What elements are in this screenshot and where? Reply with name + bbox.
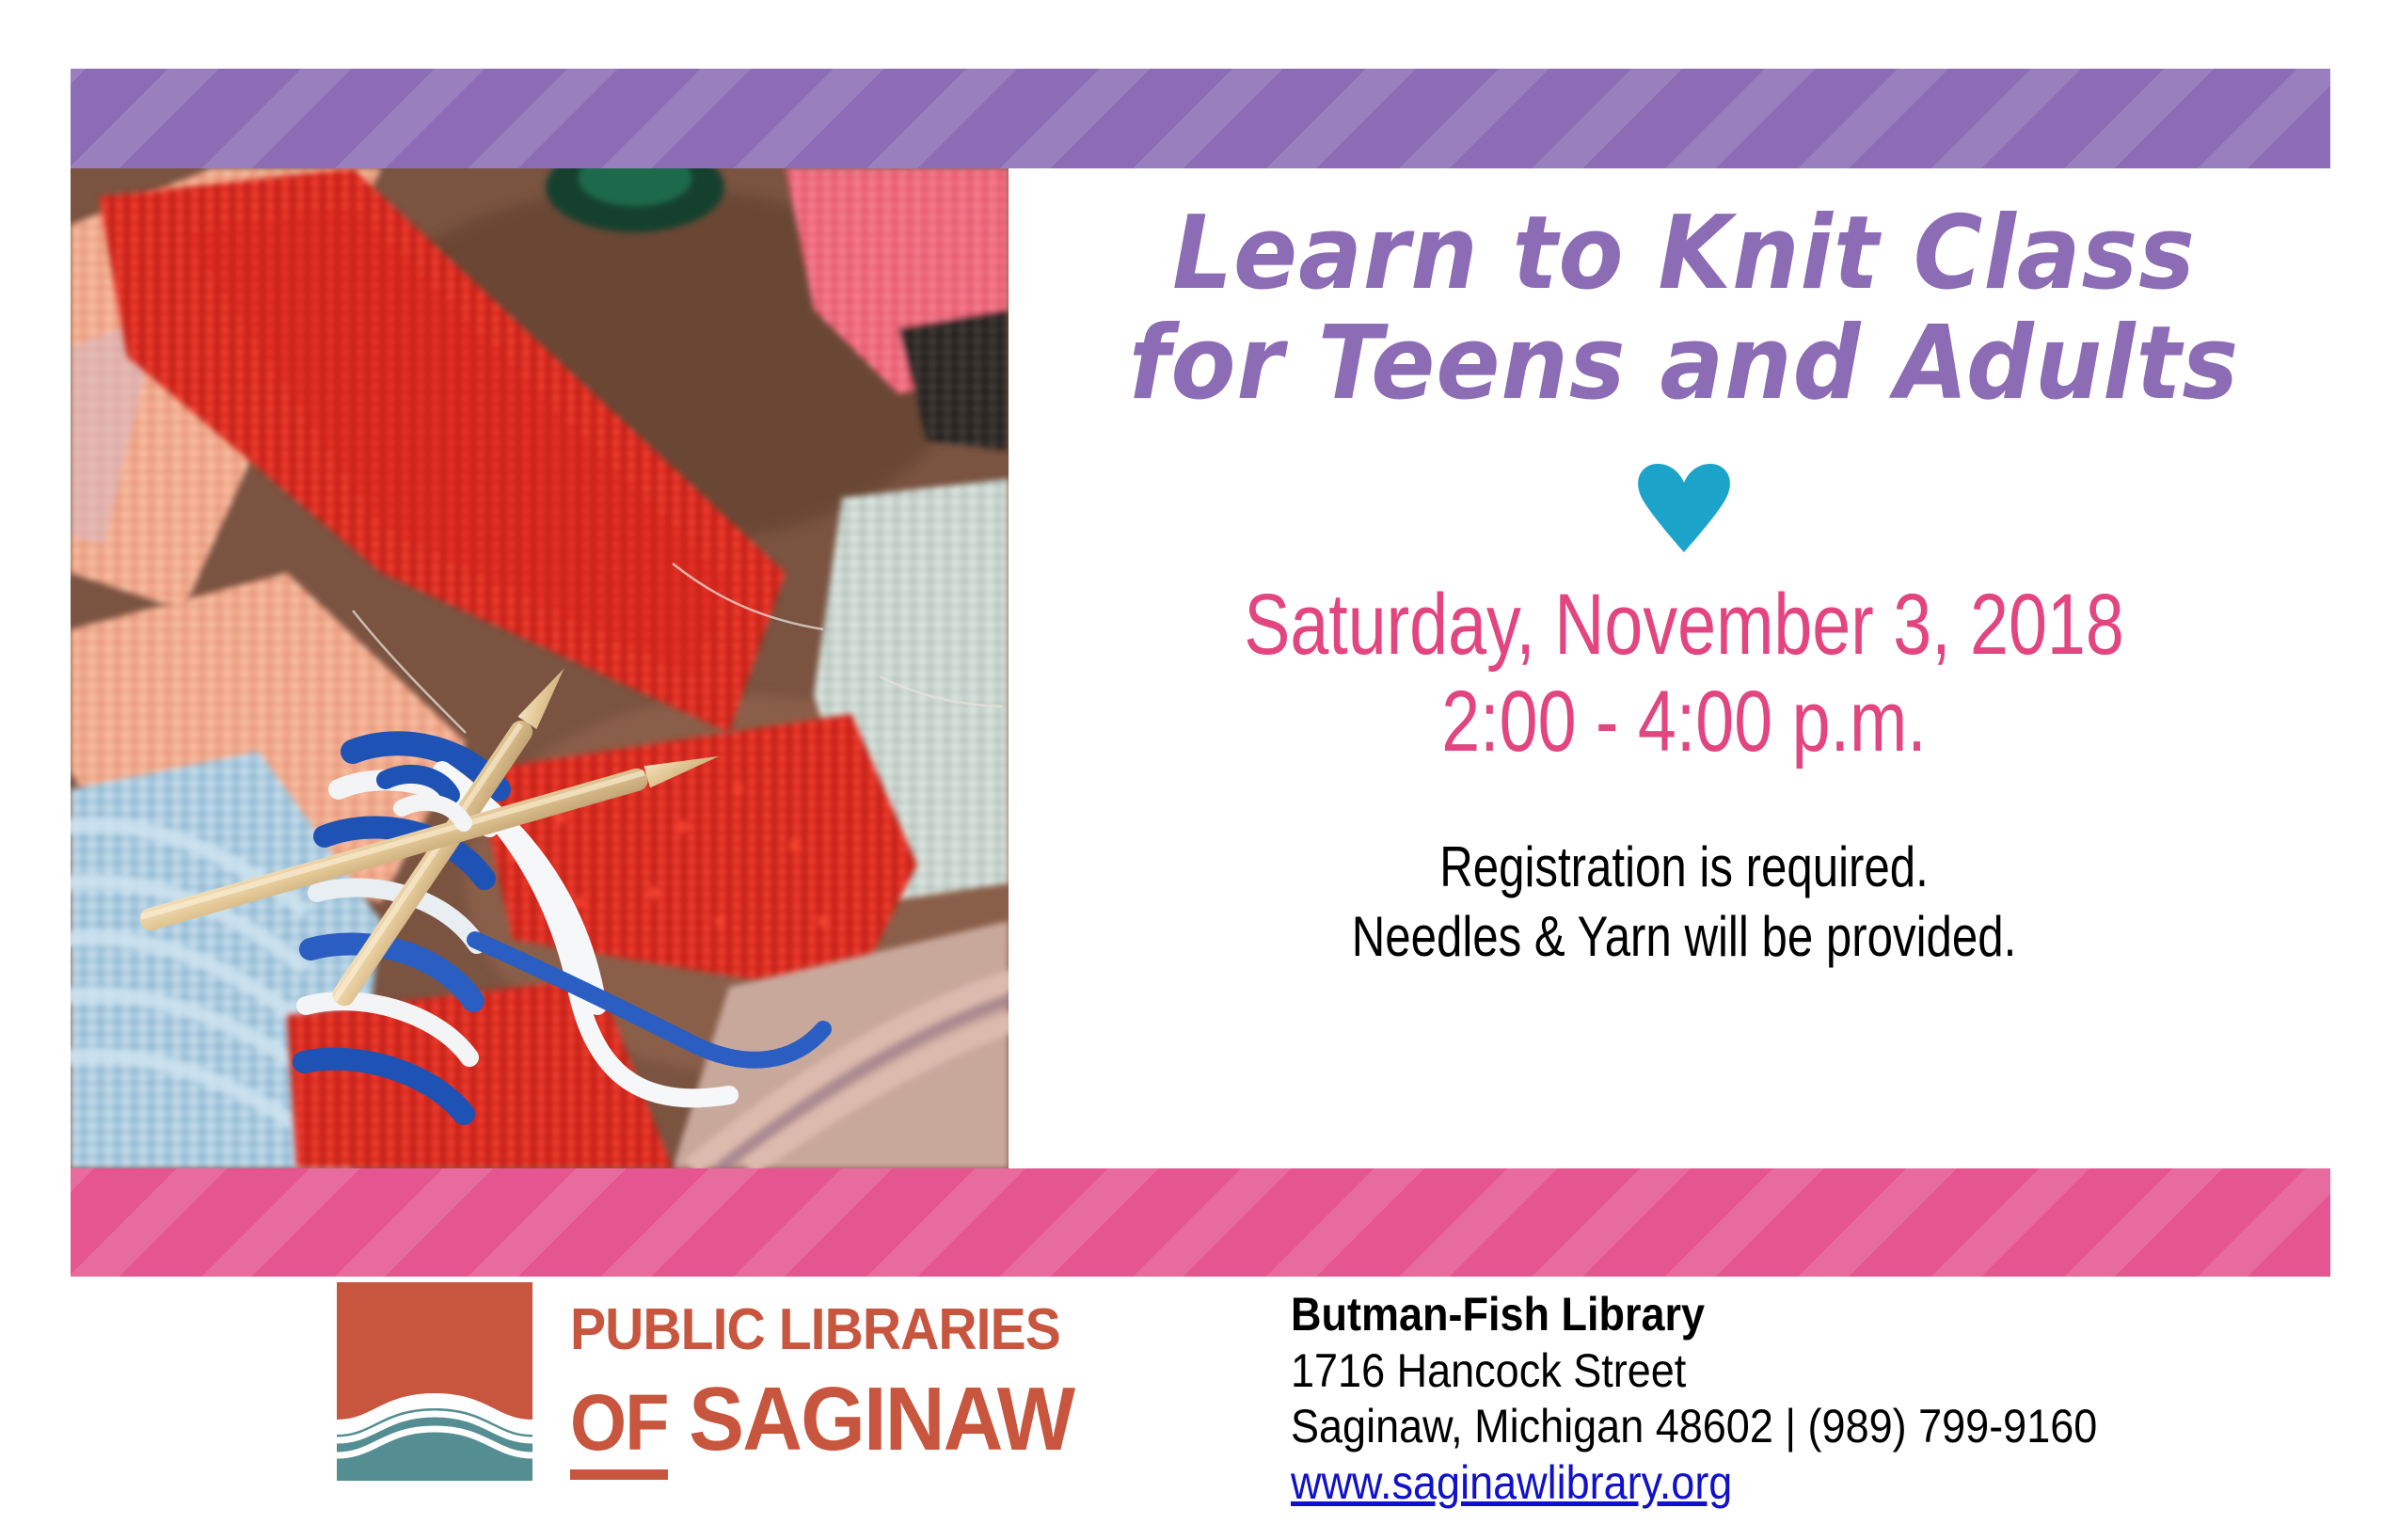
logo-word-saginaw: SAGINAW bbox=[689, 1369, 1073, 1469]
logo-line-public-libraries: PUBLIC LIBRARIES bbox=[570, 1301, 1073, 1359]
top-striped-banner bbox=[71, 69, 2330, 168]
logo-line-of-saginaw: OF SAGINAW bbox=[570, 1374, 1073, 1465]
library-logo-mark-icon bbox=[337, 1282, 532, 1481]
bottom-striped-banner bbox=[71, 1168, 2330, 1277]
branch-street: 1716 Hancock Street bbox=[1291, 1343, 2097, 1400]
branch-website-link[interactable]: www.saginawlibrary.org bbox=[1291, 1455, 2097, 1512]
page-title: Learn to Knit Class for Teens and Adults bbox=[1072, 188, 2296, 419]
heart-decoration bbox=[1025, 462, 2343, 552]
branch-city-phone: Saginaw, Michigan 48602 | (989) 799-9160 bbox=[1291, 1399, 2097, 1455]
knitting-photo bbox=[71, 168, 1009, 1168]
library-logo: PUBLIC LIBRARIES OF SAGINAW bbox=[337, 1282, 1118, 1481]
flyer-content: Learn to Knit Class for Teens and Adults… bbox=[1025, 188, 2343, 971]
flyer-poster: Learn to Knit Class for Teens and Adults… bbox=[0, 0, 2399, 1540]
library-logo-wordmark: PUBLIC LIBRARIES OF SAGINAW bbox=[570, 1282, 1118, 1465]
event-notes: Registration is required. Needles & Yarn… bbox=[1144, 833, 2224, 970]
branch-name: Butman-Fish Library bbox=[1291, 1287, 2097, 1343]
heart-icon bbox=[1635, 462, 1733, 552]
logo-word-of: OF bbox=[570, 1378, 668, 1480]
event-datetime: Saturday, November 3, 2018 2:00 - 4:00 p… bbox=[1157, 577, 2211, 770]
branch-address: Butman-Fish Library 1716 Hancock Street … bbox=[1291, 1287, 2187, 1511]
